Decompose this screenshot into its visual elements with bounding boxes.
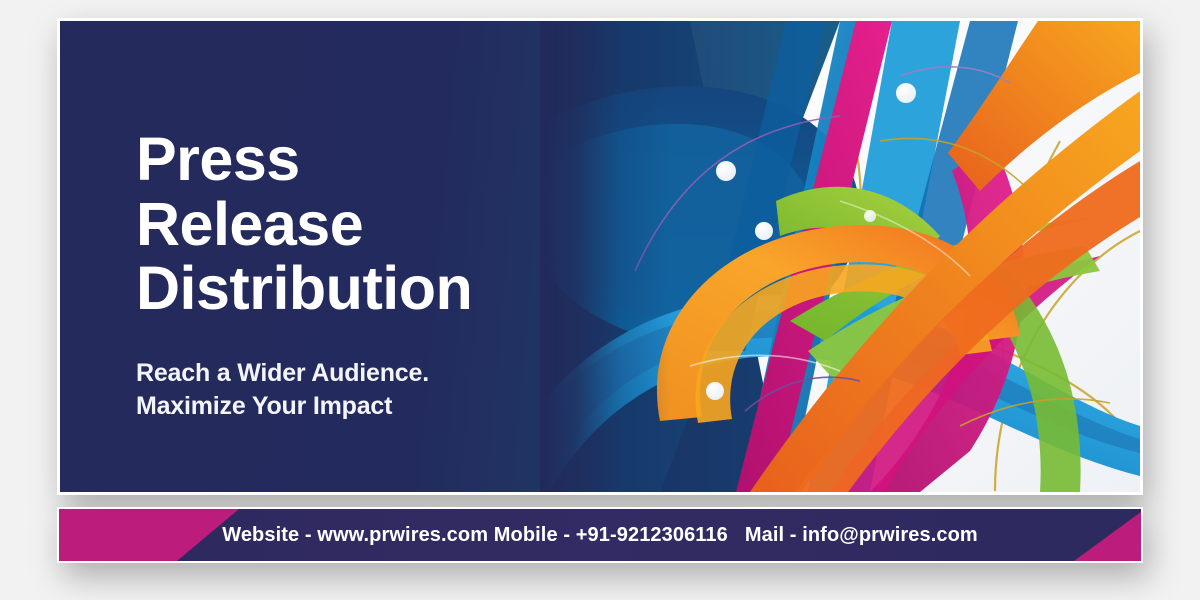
page-title: Press Release Distribution: [136, 127, 636, 321]
banner-main-panel: Press Release Distribution Reach a Wider…: [57, 18, 1143, 495]
banner-subtitle: Reach a Wider Audience. Maximize Your Im…: [136, 357, 636, 423]
subtitle-line-2: Maximize Your Impact: [136, 390, 636, 423]
headline-line-3: Distribution: [136, 256, 636, 321]
banner-copy: Press Release Distribution Reach a Wider…: [136, 127, 636, 423]
headline-line-1: Press: [136, 127, 636, 192]
headline-line-2: Release: [136, 192, 636, 257]
banner-stage: Press Release Distribution Reach a Wider…: [0, 0, 1200, 600]
subtitle-line-1: Reach a Wider Audience.: [136, 357, 636, 390]
contact-footer-bar: Website - www.prwires.com Mobile - +91-9…: [57, 507, 1143, 563]
contact-info-text: Website - www.prwires.com Mobile - +91-9…: [59, 509, 1141, 561]
banner-card: Press Release Distribution Reach a Wider…: [57, 18, 1143, 563]
